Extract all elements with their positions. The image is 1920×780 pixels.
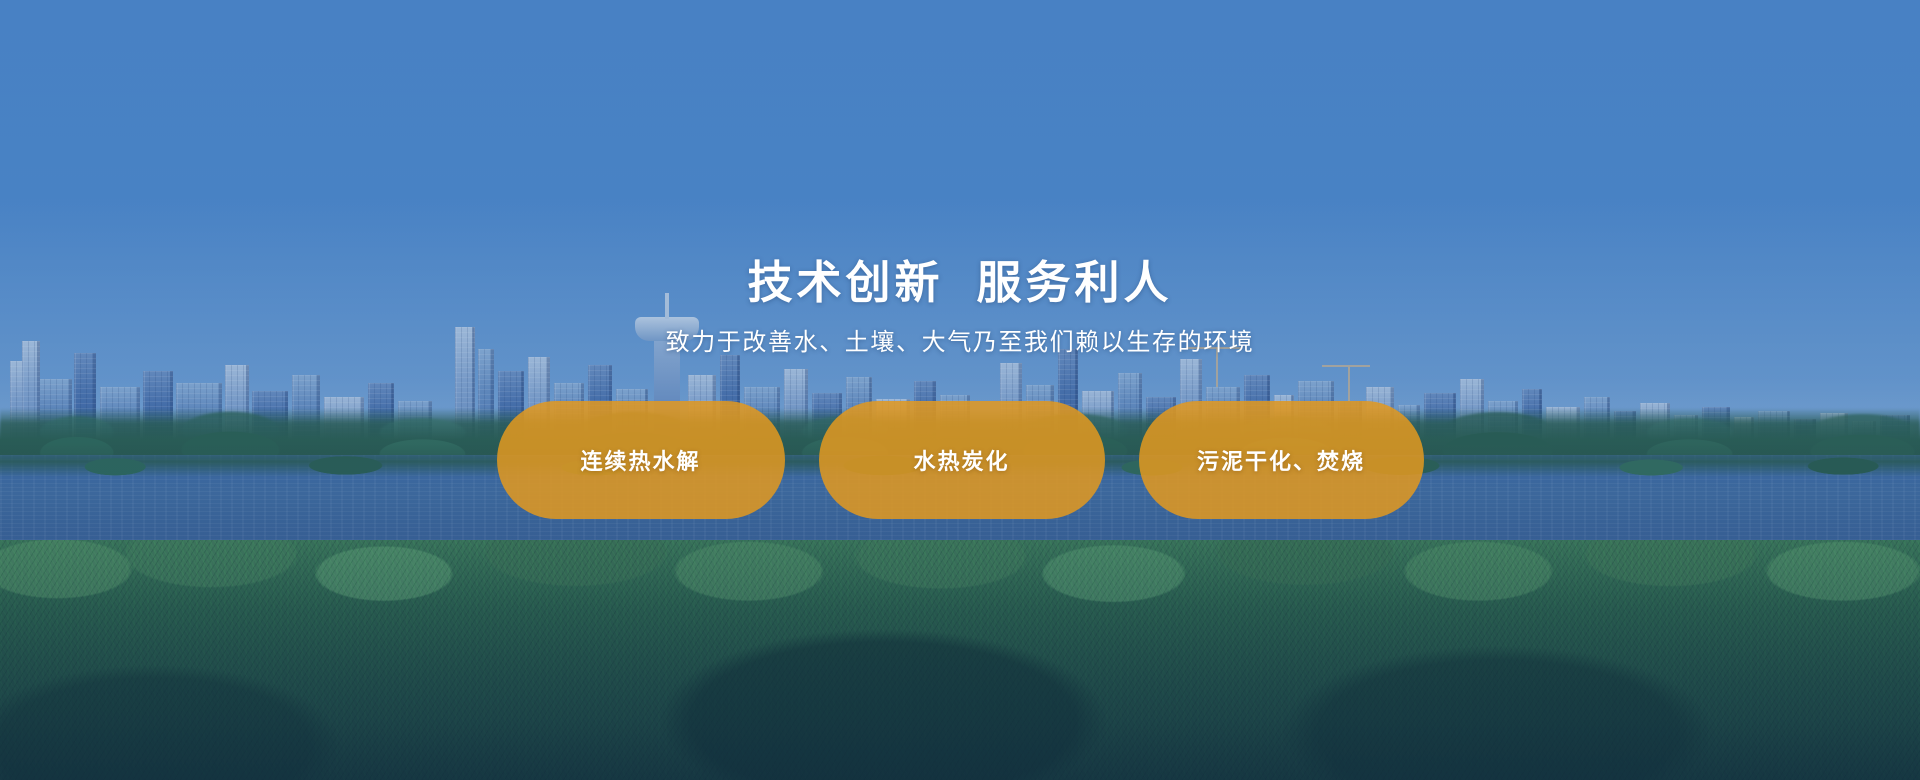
hero-content: 技术创新 服务利人 致力于改善水、土壤、大气乃至我们赖以生存的环境 连续热水解 … [0,0,1920,780]
service-button-sludge-drying-incineration[interactable]: 污泥干化、焚烧 [1139,401,1424,519]
hero-banner: 技术创新 服务利人 致力于改善水、土壤、大气乃至我们赖以生存的环境 连续热水解 … [0,0,1920,780]
hero-title: 技术创新 服务利人 [747,258,1172,308]
service-button-continuous-thermal-hydrolysis[interactable]: 连续热水解 [497,401,785,519]
hero-subtitle: 致力于改善水、土壤、大气乃至我们赖以生存的环境 [666,327,1255,358]
service-button-row: 连续热水解 水热炭化 污泥干化、焚烧 [497,401,1424,519]
service-button-hydrothermal-carbonization[interactable]: 水热炭化 [819,401,1105,519]
